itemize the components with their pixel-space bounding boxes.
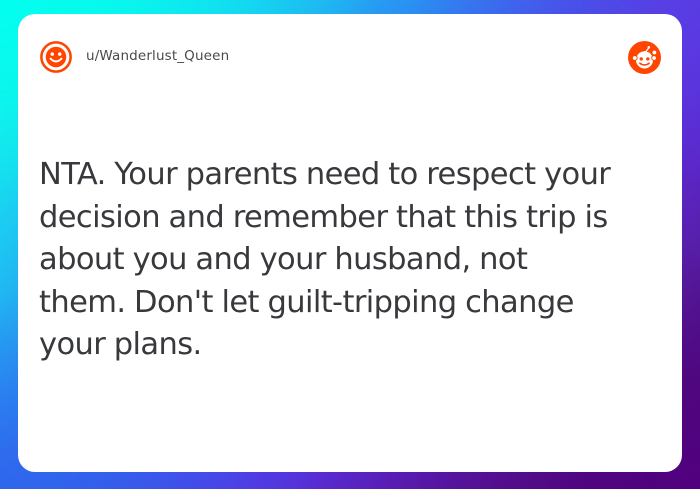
username-label: u/Wanderlust_Queen bbox=[86, 50, 229, 64]
comment-line: your plans. bbox=[39, 324, 662, 367]
smiley-face-avatar-icon[interactable] bbox=[39, 40, 73, 74]
reddit-comment-card: u/Wanderlust_Queen NTA. bbox=[18, 14, 682, 472]
comment-line: NTA. Your parents need to respect your bbox=[39, 154, 662, 197]
comment-line: decision and remember that this trip is bbox=[39, 197, 662, 240]
screenshot-stage: u/Wanderlust_Queen NTA. bbox=[0, 0, 700, 489]
reddit-snoo-logo-icon[interactable] bbox=[628, 41, 661, 74]
comment-line: about you and your husband, not bbox=[39, 239, 662, 282]
comment-body: NTA. Your parents need to respect your d… bbox=[39, 154, 662, 367]
comment-header: u/Wanderlust_Queen bbox=[18, 14, 682, 100]
comment-line: them. Don't let guilt-tripping change bbox=[39, 282, 662, 325]
